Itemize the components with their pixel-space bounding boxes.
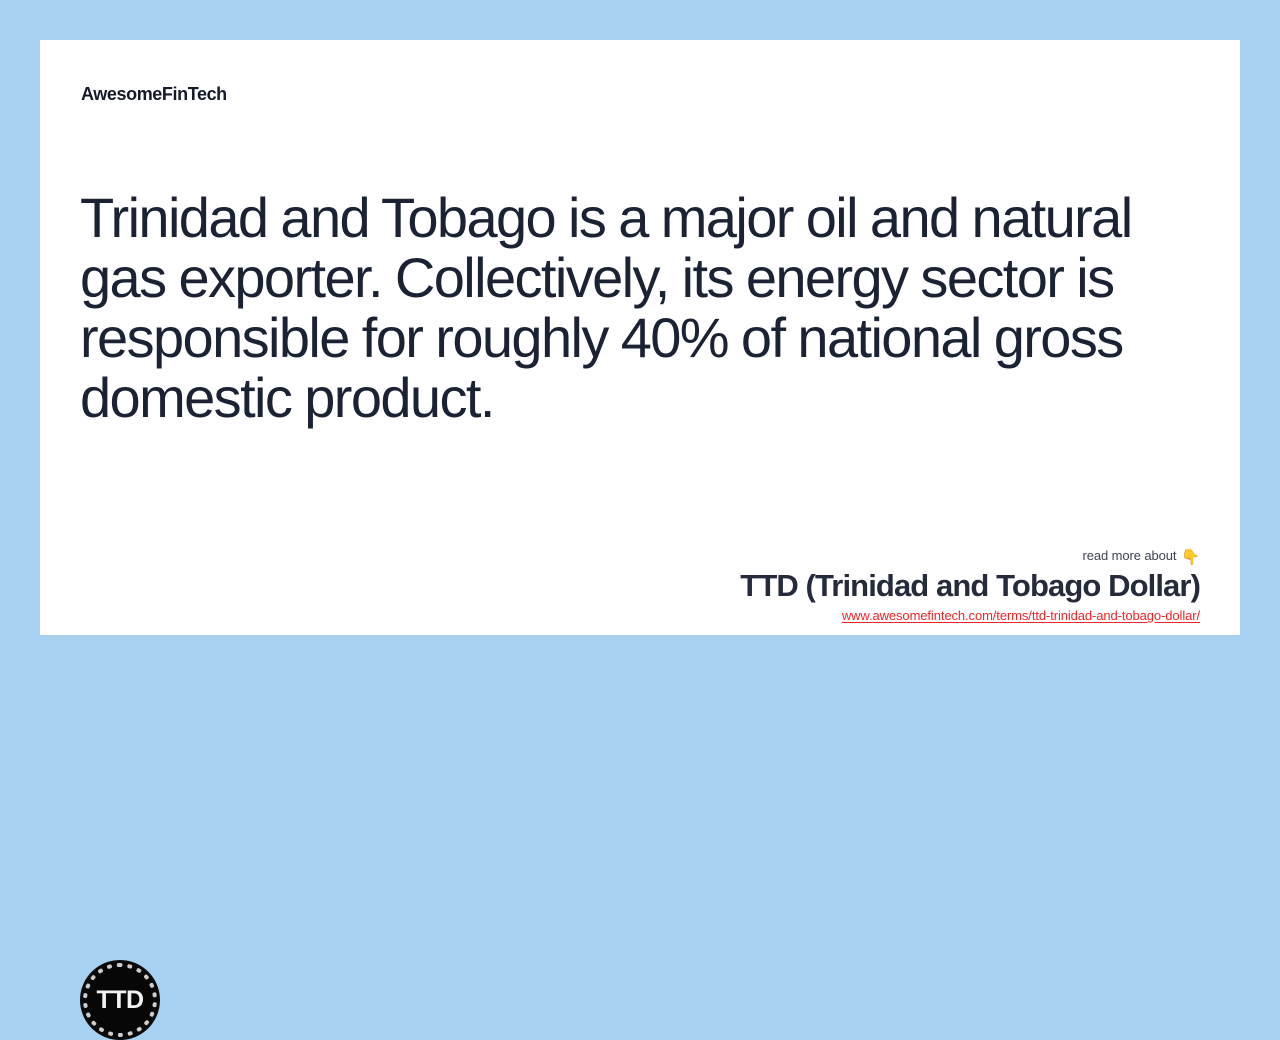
ttd-coin-logo: TTD <box>80 960 160 1040</box>
content-card: AwesomeFinTech Trinidad and Tobago is a … <box>40 40 1240 635</box>
coin-label: TTD <box>80 960 160 1040</box>
read-more-line: read more about👇 <box>440 547 1200 566</box>
card-footer: TTD read more about👇 TTD (Trinidad and T… <box>40 485 1240 635</box>
brand-wordmark: AwesomeFinTech <box>81 84 227 105</box>
term-meta-block: read more about👇 TTD (Trinidad and Tobag… <box>440 547 1200 625</box>
read-more-label: read more about <box>1083 548 1177 563</box>
quote-text: Trinidad and Tobago is a major oil and n… <box>80 188 1200 428</box>
term-url-link[interactable]: www.awesomefintech.com/terms/ttd-trinida… <box>842 607 1200 624</box>
term-title: TTD (Trinidad and Tobago Dollar) <box>440 567 1200 605</box>
pointing-down-hand-icon: 👇 <box>1181 549 1200 566</box>
